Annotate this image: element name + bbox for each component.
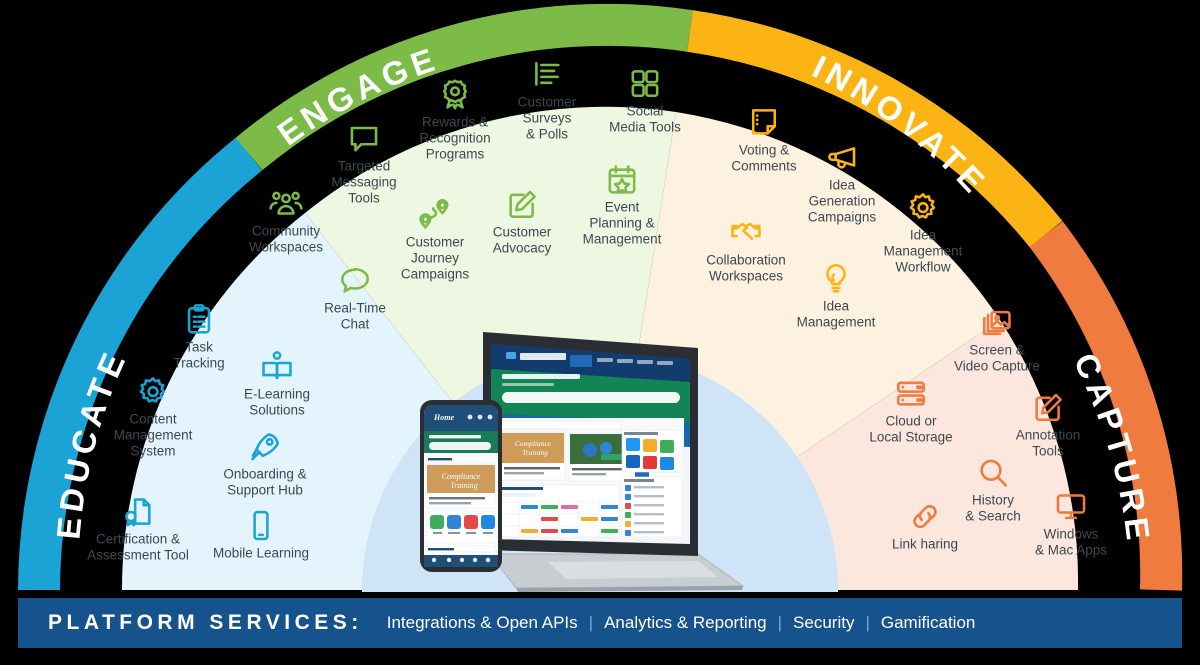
footer-separator: | [865,613,869,633]
feature-label: Certification & Assessment Tool [87,532,189,564]
feature-cloud-or-local-storage[interactable]: Cloud or Local Storage [836,377,986,446]
feature-windows-mac-apps[interactable]: Windows & Mac Apps [996,490,1146,559]
platform-services-bar: PLATFORM SERVICES: Integrations & Open A… [18,598,1182,648]
svg-text:Compliance: Compliance [515,439,552,448]
feature-label: Windows & Mac Apps [1035,527,1107,559]
calendar-star-icon [605,163,639,197]
megaphone-icon [825,141,859,175]
footer-item[interactable]: Security [793,613,854,633]
feature-label: Customer Advocacy [493,225,552,257]
server-rack-icon [894,377,928,411]
certificate-document-icon [121,495,155,529]
feature-label: Community Workspaces [249,224,323,256]
feature-idea-management[interactable]: Idea Management [761,262,911,331]
lightbulb-icon [819,262,853,296]
feature-label: Social Media Tools [609,104,681,136]
pencil-square-icon [1031,391,1065,425]
feature-label: Customer Surveys & Polls [518,95,577,143]
rocket-icon [248,430,282,464]
feature-label: Onboarding & Support Hub [223,467,306,499]
feature-label: Real-Time Chat [324,301,386,333]
svg-text:Training: Training [522,448,548,457]
award-rosette-icon [438,78,472,112]
feature-label: E-Learning Solutions [244,387,310,419]
feature-label: Event Planning & Management [583,200,662,248]
feature-label: Cloud or Local Storage [869,414,952,446]
footer-separator: | [778,613,782,633]
chain-link-icon [908,500,942,534]
feature-onboarding-support-hub[interactable]: Onboarding & Support Hub [190,430,340,499]
feature-label: Content Management System [114,412,193,460]
footer-item[interactable]: Analytics & Reporting [604,613,767,633]
survey-list-icon [530,58,564,92]
mobile-phone-icon [244,509,278,543]
handshake-icon [729,216,763,250]
feature-label: Screen & Video Capture [954,343,1040,375]
pencil-square-icon [505,188,539,222]
desktop-monitor-icon [1054,490,1088,524]
feature-mobile-learning[interactable]: Mobile Learning [186,509,336,562]
platform-services-items: Integrations & Open APIs|Analytics & Rep… [387,613,976,633]
feature-label: Mobile Learning [213,546,309,562]
svg-text:Training: Training [450,481,478,490]
infographic-canvas: EDUCATE ENGAGE INNOVATE CAPTURE Task Tra… [0,0,1200,665]
svg-text:Home: Home [433,413,454,422]
clipboard-checklist-icon [182,303,216,337]
footer-item[interactable]: Integrations & Open APIs [387,613,578,633]
feature-screen-video-capture[interactable]: Screen & Video Capture [922,306,1072,375]
feature-label: Link haring [892,537,958,553]
device-mockup: Compliance Training [398,322,748,592]
svg-text:Compliance: Compliance [442,472,481,481]
sticky-note-icon [747,106,781,140]
images-stack-icon [980,306,1014,340]
gear-icon [906,191,940,225]
open-book-icon [260,350,294,384]
platform-services-title: PLATFORM SERVICES: [48,611,363,635]
feature-annotation-tools[interactable]: Annotation Tools [973,391,1123,460]
footer-item[interactable]: Gamification [881,613,975,633]
footer-separator: | [589,613,593,633]
magnifier-icon [976,456,1010,490]
feature-label: Idea Management [797,299,876,331]
feature-link-sharing[interactable]: Link haring [850,500,1000,553]
speech-bubble-square-icon [347,122,381,156]
four-squares-grid-icon [628,67,662,101]
gear-icon [136,375,170,409]
